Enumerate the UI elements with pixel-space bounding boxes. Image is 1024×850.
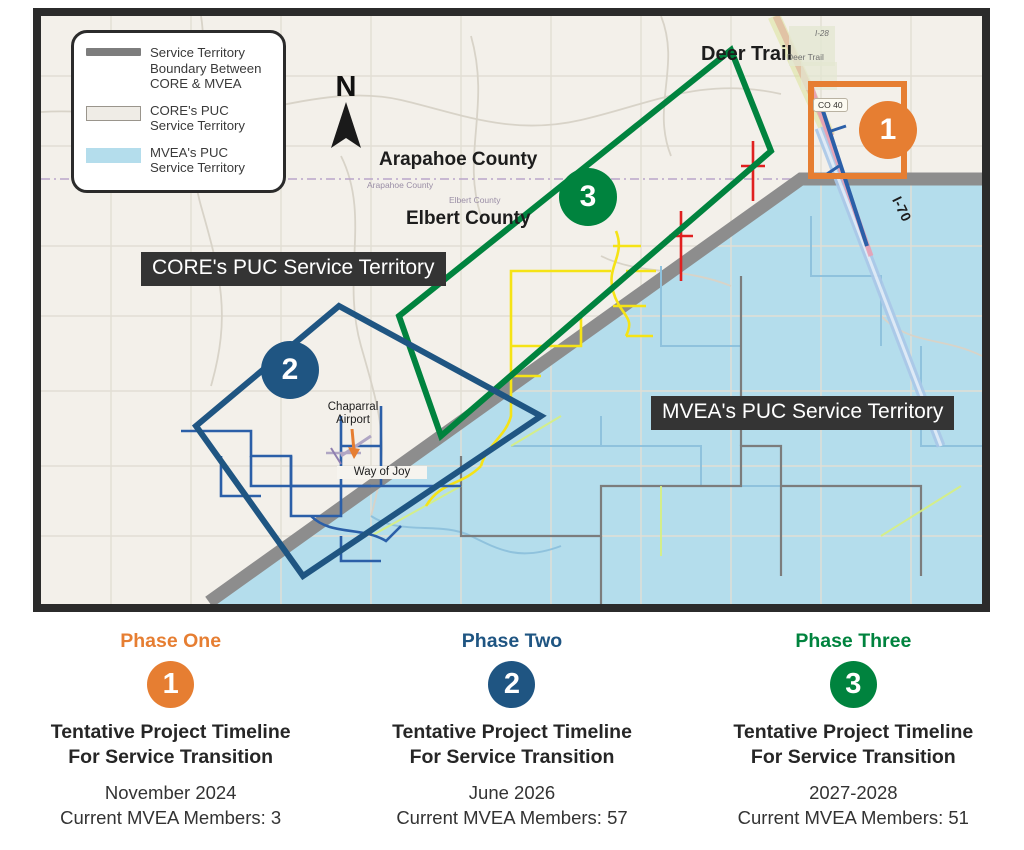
phase-card-two: Phase Two 2 Tentative Project Timeline F…	[341, 618, 682, 850]
legend-swatch-mvea-fill	[86, 148, 141, 163]
phase-two-number: 2	[504, 668, 520, 701]
north-arrow-icon	[329, 100, 363, 152]
map-marker-phase-3[interactable]: 3	[559, 168, 617, 226]
legend-swatch-boundary-line	[86, 48, 141, 56]
phase-card-three: Phase Three 3 Tentative Project Timeline…	[683, 618, 1024, 850]
phase-one-badge: 1	[147, 661, 194, 708]
phase-one-timeline: November 2024	[0, 780, 341, 805]
phase-three-heading-line1: Tentative Project Timeline	[683, 720, 1024, 745]
legend-item-core: CORE's PUC Service Territory	[86, 103, 271, 134]
phase-two-title: Phase Two	[341, 630, 682, 653]
north-arrow-letter: N	[329, 74, 363, 100]
map-marker-2-number: 2	[282, 353, 299, 387]
phase-three-badge: 3	[830, 661, 877, 708]
phase-one-members: Current MVEA Members: 3	[0, 805, 341, 830]
service-territory-map[interactable]: Service Territory Boundary Between CORE …	[33, 8, 990, 612]
legend-label-core: CORE's PUC Service Territory	[150, 103, 271, 134]
phase-two-heading: Tentative Project Timeline For Service T…	[341, 720, 682, 770]
legend-label-mvea: MVEA's PUC Service Territory	[150, 145, 271, 176]
phase-one-number: 1	[163, 668, 179, 701]
phase-one-title: Phase One	[0, 630, 341, 653]
phase-two-heading-line2: For Service Transition	[341, 745, 682, 770]
legend-item-boundary: Service Territory Boundary Between CORE …	[86, 45, 271, 92]
legend-label-boundary: Service Territory Boundary Between CORE …	[150, 45, 271, 92]
phase-three-heading: Tentative Project Timeline For Service T…	[683, 720, 1024, 770]
phase-timeline-section: Phase One 1 Tentative Project Timeline F…	[0, 618, 1024, 850]
phase-one-heading-line2: For Service Transition	[0, 745, 341, 770]
phase-three-heading-line2: For Service Transition	[683, 745, 1024, 770]
north-arrow: N	[329, 74, 363, 157]
legend-item-mvea: MVEA's PUC Service Territory	[86, 145, 271, 176]
phase-one-heading-line1: Tentative Project Timeline	[0, 720, 341, 745]
map-marker-1-number: 1	[880, 113, 897, 147]
legend-swatch-core-fill	[86, 106, 141, 121]
phase-two-heading-line1: Tentative Project Timeline	[341, 720, 682, 745]
phase-card-one: Phase One 1 Tentative Project Timeline F…	[0, 618, 341, 850]
phase-three-number: 3	[845, 668, 861, 701]
phase-three-timeline: 2027-2028	[683, 780, 1024, 805]
map-marker-phase-1[interactable]: 1	[859, 101, 917, 159]
phase-three-members: Current MVEA Members: 51	[683, 805, 1024, 830]
phase-two-timeline: June 2026	[341, 780, 682, 805]
map-marker-phase-2[interactable]: 2	[261, 341, 319, 399]
phase-two-members: Current MVEA Members: 57	[341, 805, 682, 830]
map-marker-3-number: 3	[580, 180, 597, 214]
map-legend: Service Territory Boundary Between CORE …	[71, 30, 286, 193]
phase-two-badge: 2	[488, 661, 535, 708]
phase-one-heading: Tentative Project Timeline For Service T…	[0, 720, 341, 770]
phase-three-title: Phase Three	[683, 630, 1024, 653]
